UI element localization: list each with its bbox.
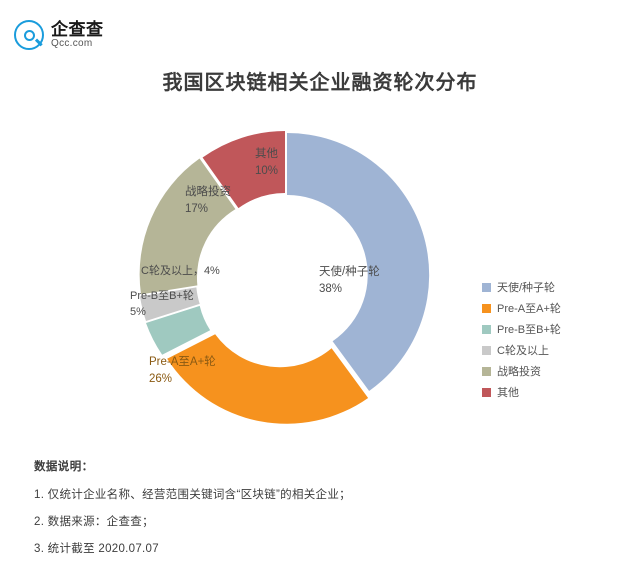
donut-chart: 天使/种子轮 38% Pre-A至A+轮 26% Pre-B至B+轮 5% C轮… xyxy=(0,108,520,448)
legend-item[interactable]: 其他 xyxy=(482,382,632,402)
slice-label-other: 其他 10% xyxy=(255,146,278,179)
legend-swatch-icon xyxy=(482,283,491,292)
legend-swatch-icon xyxy=(482,325,491,334)
legend-item[interactable]: Pre-B至B+轮 xyxy=(482,319,632,339)
legend-item[interactable]: Pre-A至A+轮 xyxy=(482,298,632,318)
legend-label: 战略投资 xyxy=(497,363,541,379)
slice-label-angel: 天使/种子轮 38% xyxy=(319,264,380,297)
note-line: 1. 仅统计企业名称、经营范围关键词含“区块链”的相关企业； xyxy=(34,486,454,502)
page-title: 我国区块链相关企业融资轮次分布 xyxy=(0,66,640,95)
legend-swatch-icon xyxy=(482,388,491,397)
notes-heading: 数据说明： xyxy=(34,458,454,474)
brand-logo: 企查查 Qcc.com xyxy=(14,20,104,50)
brand-name: 企查查 Qcc.com xyxy=(51,21,104,49)
donut-graphic: 天使/种子轮 38% Pre-A至A+轮 26% Pre-B至B+轮 5% C轮… xyxy=(125,116,445,436)
legend-item[interactable]: C轮及以上 xyxy=(482,340,632,360)
legend-swatch-icon xyxy=(482,346,491,355)
legend-label: Pre-B至B+轮 xyxy=(497,321,561,337)
chart-legend: 天使/种子轮 Pre-A至A+轮 Pre-B至B+轮 C轮及以上 战略投资 其他 xyxy=(482,277,632,403)
note-line: 3. 统计截至 2020.07.07 xyxy=(34,540,454,556)
brand-name-en: Qcc.com xyxy=(51,39,104,50)
note-line: 2. 数据来源：企查查； xyxy=(34,513,454,529)
legend-swatch-icon xyxy=(482,304,491,313)
legend-label: C轮及以上 xyxy=(497,342,549,358)
qcc-circle-logo-icon xyxy=(14,20,44,50)
brand-name-cn: 企查查 xyxy=(51,21,104,39)
slice-label-preb: Pre-B至B+轮 5% xyxy=(130,289,194,321)
legend-label: Pre-A至A+轮 xyxy=(497,300,561,316)
slice-angel[interactable] xyxy=(287,133,429,391)
slice-label-strategy: 战略投资 17% xyxy=(185,184,231,217)
legend-item[interactable]: 天使/种子轮 xyxy=(482,277,632,297)
legend-label: 其他 xyxy=(497,384,519,400)
legend-label: 天使/种子轮 xyxy=(497,279,555,295)
legend-swatch-icon xyxy=(482,367,491,376)
slice-label-prea: Pre-A至A+轮 26% xyxy=(149,354,216,387)
slice-label-c-round: C轮及以上，4% xyxy=(141,264,220,280)
legend-item[interactable]: 战略投资 xyxy=(482,361,632,381)
data-notes: 数据说明： 1. 仅统计企业名称、经营范围关键词含“区块链”的相关企业； 2. … xyxy=(34,458,454,567)
